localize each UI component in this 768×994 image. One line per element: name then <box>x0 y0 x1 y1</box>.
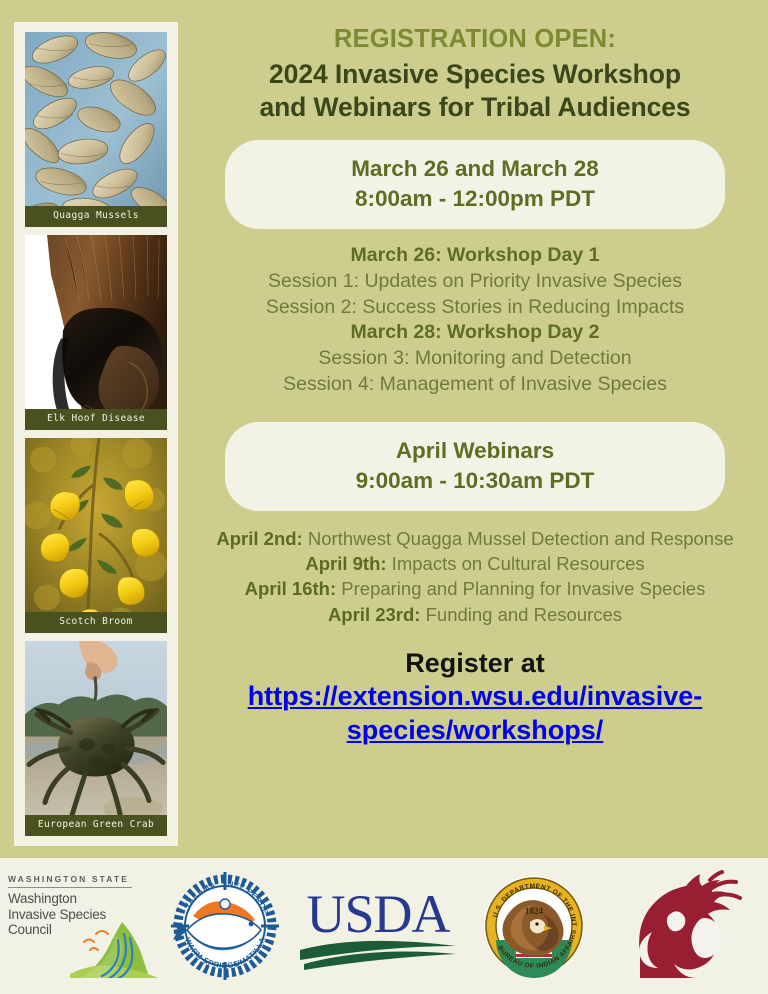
logo-critfc-tribal-fisheries: YAKAMA NEZ PERCE WARM SPRINGS UMATILLA <box>160 858 290 994</box>
elk-hoof-disease-photo <box>25 235 167 430</box>
register-section: Register at https://extension.wsu.edu/in… <box>182 647 768 747</box>
scotch-broom-photo <box>25 438 167 633</box>
logo-washington-invasive-species-council: WASHINGTON STATE Washington Invasive Spe… <box>0 858 160 994</box>
tribal-salmon-seal-icon: YAKAMA NEZ PERCE WARM SPRINGS UMATILLA <box>169 870 281 982</box>
photo-card-european-green-crab: European Green Crab <box>25 641 167 836</box>
workshop-dates: March 26 and March 28 <box>235 154 715 184</box>
wsu-cougar-head-icon <box>626 870 744 982</box>
photo-caption: Scotch Broom <box>25 612 167 633</box>
webinar-item: April 23rd: Funding and Resources <box>182 602 768 627</box>
flyer-root: Quagga Mussels <box>0 0 768 994</box>
species-photo-sidebar: Quagga Mussels <box>14 22 178 846</box>
photo-caption: Elk Hoof Disease <box>25 409 167 430</box>
webinar-date: April 2nd: <box>216 528 302 549</box>
page-title-line2: and Webinars for Tribal Audiences <box>182 91 768 124</box>
page-title: 2024 Invasive Species Workshop and Webin… <box>182 58 768 125</box>
workshop-date-banner: March 26 and March 28 8:00am - 12:00pm P… <box>225 140 725 228</box>
photo-card-scotch-broom: Scotch Broom <box>25 438 167 633</box>
webinar-times: 9:00am - 10:30am PDT <box>235 466 715 496</box>
photo-card-quagga-mussels: Quagga Mussels <box>25 32 167 227</box>
webinar-date: April 9th: <box>305 553 386 574</box>
webinar-topic: Northwest Quagga Mussel Detection and Re… <box>303 528 734 549</box>
session-item: Session 2: Success Stories in Reducing I… <box>182 295 768 321</box>
webinar-title: April Webinars <box>235 436 715 466</box>
photo-caption: European Green Crab <box>25 815 167 836</box>
logo-washington-state-university <box>602 858 768 994</box>
webinar-date: April 16th: <box>245 578 336 599</box>
workshop-day2-heading: March 28: Workshop Day 2 <box>182 320 768 346</box>
wisc-name-line1: Washington <box>8 891 160 906</box>
webinar-topic: Impacts on Cultural Resources <box>387 553 645 574</box>
webinar-topic: Preparing and Planning for Invasive Spec… <box>336 578 705 599</box>
register-label: Register at <box>182 647 768 680</box>
workshop-times: 8:00am - 12:00pm PDT <box>235 184 715 214</box>
webinar-topic: Funding and Resources <box>420 604 622 625</box>
usda-logo-icon: USDA <box>298 880 458 972</box>
partner-logo-strip: WASHINGTON STATE Washington Invasive Spe… <box>0 858 768 994</box>
quagga-mussels-photo <box>25 32 167 227</box>
wisc-state-label: WASHINGTON STATE <box>8 874 132 888</box>
session-item: Session 4: Management of Invasive Specie… <box>182 372 768 398</box>
main-content: REGISTRATION OPEN: 2024 Invasive Species… <box>182 0 768 860</box>
page-title-line1: 2024 Invasive Species Workshop <box>182 58 768 91</box>
bia-seal-icon: 1824 U.S. DEPARTMENT OF THE INTERIOR BUR… <box>478 870 590 982</box>
webinar-date-banner: April Webinars 9:00am - 10:30am PDT <box>225 422 725 510</box>
workshop-day1-heading: March 26: Workshop Day 1 <box>182 243 768 269</box>
webinar-date: April 23rd: <box>328 604 421 625</box>
photo-card-elk-hoof-disease: Elk Hoof Disease <box>25 235 167 430</box>
bia-year: 1824 <box>525 906 544 916</box>
workshop-sessions: March 26: Workshop Day 1 Session 1: Upda… <box>182 243 768 399</box>
logo-usda: USDA <box>290 858 466 994</box>
webinar-item: April 16th: Preparing and Planning for I… <box>182 576 768 601</box>
logo-bureau-of-indian-affairs: 1824 U.S. DEPARTMENT OF THE INTERIOR BUR… <box>466 858 602 994</box>
photo-caption: Quagga Mussels <box>25 206 167 227</box>
webinar-item: April 2nd: Northwest Quagga Mussel Detec… <box>182 526 768 551</box>
usda-wordmark: USDA <box>306 884 450 944</box>
river-landscape-icon <box>70 920 158 978</box>
session-item: Session 3: Monitoring and Detection <box>182 346 768 372</box>
webinar-list: April 2nd: Northwest Quagga Mussel Detec… <box>182 526 768 627</box>
registration-open-eyebrow: REGISTRATION OPEN: <box>182 25 768 54</box>
webinar-item: April 9th: Impacts on Cultural Resources <box>182 551 768 576</box>
session-item: Session 1: Updates on Priority Invasive … <box>182 269 768 295</box>
registration-url-link[interactable]: https://extension.wsu.edu/invasive-speci… <box>182 680 768 747</box>
european-green-crab-photo <box>25 641 167 836</box>
